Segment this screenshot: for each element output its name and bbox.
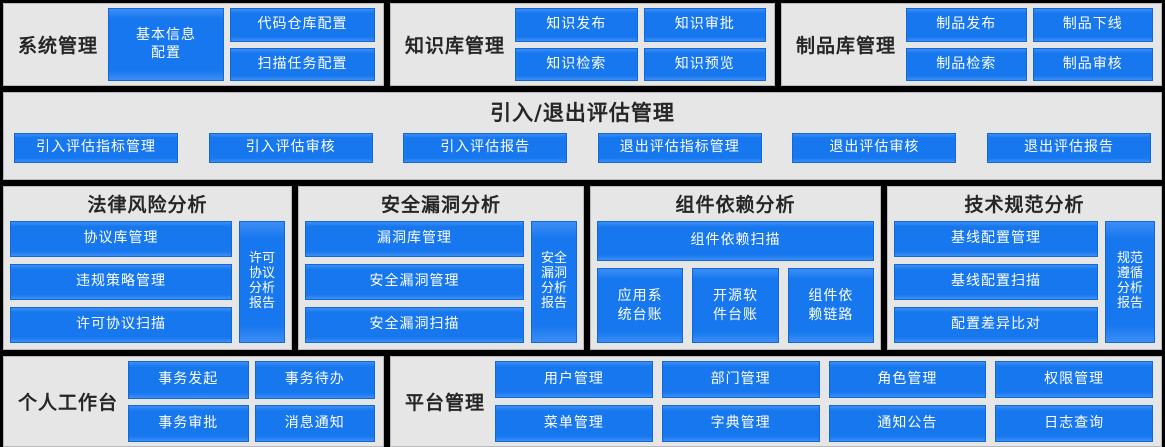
panel-title-entry-exit-evaluation: 引入/退出评估管理 bbox=[10, 97, 1155, 129]
button-license-analysis-report[interactable]: 许可 协议 分析 报告 bbox=[239, 221, 285, 343]
body-legal-risk-analysis: 协议库管理 违规策略管理 许可协议扫描 许可 协议 分析 报告 bbox=[10, 219, 285, 343]
button-vulnerability-repo-management[interactable]: 漏洞库管理 bbox=[305, 221, 524, 257]
button-knowledge-search[interactable]: 知识检索 bbox=[515, 48, 637, 82]
row-entry-exit-evaluation: 引入/退出评估管理 引入评估指标管理 引入评估审核 引入评估报告 退出评估指标管… bbox=[0, 92, 1165, 180]
panel-title-knowledge-base-management: 知识库管理 bbox=[395, 31, 515, 58]
body-technical-standard-analysis: 基线配置管理 基线配置扫描 配置差异比对 规范 遵循 分析 报告 bbox=[894, 219, 1155, 343]
button-baseline-config-scan[interactable]: 基线配置扫描 bbox=[894, 264, 1098, 300]
button-open-source-software-ledger[interactable]: 开源软 件台账 bbox=[692, 268, 778, 343]
button-group-component-ledgers: 应用系 统台账 开源软 件台账 组件依 赖链路 bbox=[597, 268, 874, 343]
button-artifact-search[interactable]: 制品检索 bbox=[906, 48, 1026, 82]
button-knowledge-publish[interactable]: 知识发布 bbox=[515, 8, 637, 42]
panel-platform-management: 平台管理 用户管理 部门管理 角色管理 权限管理 菜单管理 字典管理 通知公告 … bbox=[390, 356, 1162, 447]
button-basic-info-config[interactable]: 基本信息 配置 bbox=[108, 8, 224, 81]
button-security-vulnerability-report[interactable]: 安全 漏洞 分析 报告 bbox=[531, 221, 577, 343]
button-knowledge-preview[interactable]: 知识预览 bbox=[644, 48, 767, 82]
button-security-vulnerability-management[interactable]: 安全漏洞管理 bbox=[305, 264, 524, 300]
button-component-dependency-chain[interactable]: 组件依 赖链路 bbox=[788, 268, 874, 343]
button-exit-eval-report[interactable]: 退出评估报告 bbox=[987, 133, 1151, 163]
button-component-dependency-scan[interactable]: 组件依赖扫描 bbox=[597, 221, 874, 261]
button-group-system-management: 基本信息 配置 代码仓库配置 扫描任务配置 bbox=[108, 8, 375, 81]
row-analysis-modules: 法律风险分析 协议库管理 违规策略管理 许可协议扫描 许可 协议 分析 报告 安… bbox=[0, 186, 1165, 350]
button-code-repo-config[interactable]: 代码仓库配置 bbox=[230, 8, 375, 42]
panel-legal-risk-analysis: 法律风险分析 协议库管理 违规策略管理 许可协议扫描 许可 协议 分析 报告 bbox=[3, 186, 292, 350]
panel-title-system-management: 系统管理 bbox=[8, 31, 108, 58]
panel-component-dependency-analysis: 组件依赖分析 组件依赖扫描 应用系 统台账 开源软 件台账 组件依 赖链路 bbox=[590, 186, 881, 350]
panel-title-legal-risk-analysis: 法律风险分析 bbox=[10, 191, 285, 219]
panel-title-technical-standard-analysis: 技术规范分析 bbox=[894, 191, 1155, 219]
panel-title-artifact-repo-management: 制品库管理 bbox=[786, 31, 906, 58]
button-dictionary-management[interactable]: 字典管理 bbox=[662, 405, 820, 442]
button-group-security-vulnerability: 漏洞库管理 安全漏洞管理 安全漏洞扫描 bbox=[305, 221, 524, 343]
panel-system-management: 系统管理 基本信息 配置 代码仓库配置 扫描任务配置 bbox=[3, 3, 384, 86]
panel-security-vulnerability-analysis: 安全漏洞分析 漏洞库管理 安全漏洞管理 安全漏洞扫描 安全 漏洞 分析 报告 bbox=[298, 186, 584, 350]
button-task-initiate[interactable]: 事务发起 bbox=[128, 361, 248, 398]
button-artifact-audit[interactable]: 制品审核 bbox=[1033, 48, 1154, 82]
button-menu-management[interactable]: 菜单管理 bbox=[495, 405, 653, 442]
button-scan-task-config[interactable]: 扫描任务配置 bbox=[230, 48, 375, 82]
button-exit-eval-metric-management[interactable]: 退出评估指标管理 bbox=[598, 133, 762, 163]
body-component-dependency-analysis: 组件依赖扫描 应用系 统台账 开源软 件台账 组件依 赖链路 bbox=[597, 219, 874, 343]
button-role-management[interactable]: 角色管理 bbox=[829, 361, 987, 398]
button-entry-eval-audit[interactable]: 引入评估审核 bbox=[209, 133, 373, 163]
panel-title-component-dependency-analysis: 组件依赖分析 bbox=[597, 191, 874, 219]
button-violation-policy-management[interactable]: 违规策略管理 bbox=[10, 264, 232, 300]
body-security-vulnerability-analysis: 漏洞库管理 安全漏洞管理 安全漏洞扫描 安全 漏洞 分析 报告 bbox=[305, 219, 577, 343]
button-user-management[interactable]: 用户管理 bbox=[495, 361, 653, 398]
button-knowledge-approval[interactable]: 知识审批 bbox=[644, 8, 767, 42]
button-notice-announcement[interactable]: 通知公告 bbox=[829, 405, 987, 442]
button-license-repo-management[interactable]: 协议库管理 bbox=[10, 221, 232, 257]
button-baseline-config-management[interactable]: 基线配置管理 bbox=[894, 221, 1098, 257]
button-config-difference-compare[interactable]: 配置差异比对 bbox=[894, 307, 1098, 343]
button-artifact-offline[interactable]: 制品下线 bbox=[1033, 8, 1154, 42]
panel-title-platform-management: 平台管理 bbox=[395, 388, 495, 415]
button-group-platform-management: 用户管理 部门管理 角色管理 权限管理 菜单管理 字典管理 通知公告 日志查询 bbox=[495, 361, 1153, 442]
button-task-approval[interactable]: 事务审批 bbox=[128, 405, 248, 442]
module-map-root: 系统管理 基本信息 配置 代码仓库配置 扫描任务配置 知识库管理 知识发布 知识… bbox=[0, 0, 1165, 447]
panel-title-personal-workbench: 个人工作台 bbox=[8, 388, 128, 415]
row-workbench-platform: 个人工作台 事务发起 事务待办 事务审批 消息通知 平台管理 用户管理 部门管理… bbox=[0, 356, 1165, 447]
panel-title-security-vulnerability-analysis: 安全漏洞分析 bbox=[305, 191, 577, 219]
button-application-system-ledger[interactable]: 应用系 统台账 bbox=[597, 268, 683, 343]
row-system-knowledge-artifact: 系统管理 基本信息 配置 代码仓库配置 扫描任务配置 知识库管理 知识发布 知识… bbox=[0, 3, 1165, 86]
button-artifact-publish[interactable]: 制品发布 bbox=[906, 8, 1026, 42]
button-license-agreement-scan[interactable]: 许可协议扫描 bbox=[10, 307, 232, 343]
button-exit-eval-audit[interactable]: 退出评估审核 bbox=[792, 133, 956, 163]
button-permission-management[interactable]: 权限管理 bbox=[995, 361, 1153, 398]
button-standard-compliance-report[interactable]: 规范 遵循 分析 报告 bbox=[1105, 221, 1155, 343]
button-department-management[interactable]: 部门管理 bbox=[662, 361, 820, 398]
button-message-notification[interactable]: 消息通知 bbox=[255, 405, 376, 442]
button-entry-eval-metric-management[interactable]: 引入评估指标管理 bbox=[14, 133, 178, 163]
button-group-legal-risk-analysis: 协议库管理 违规策略管理 许可协议扫描 bbox=[10, 221, 232, 343]
panel-entry-exit-evaluation: 引入/退出评估管理 引入评估指标管理 引入评估审核 引入评估报告 退出评估指标管… bbox=[3, 92, 1162, 180]
button-entry-eval-report[interactable]: 引入评估报告 bbox=[403, 133, 567, 163]
button-task-todo[interactable]: 事务待办 bbox=[255, 361, 376, 398]
panel-personal-workbench: 个人工作台 事务发起 事务待办 事务审批 消息通知 bbox=[3, 356, 384, 447]
button-group-personal-workbench: 事务发起 事务待办 事务审批 消息通知 bbox=[128, 361, 375, 442]
panel-knowledge-base-management: 知识库管理 知识发布 知识审批 知识检索 知识预览 bbox=[390, 3, 775, 86]
button-log-query[interactable]: 日志查询 bbox=[995, 405, 1153, 442]
button-security-vulnerability-scan[interactable]: 安全漏洞扫描 bbox=[305, 307, 524, 343]
button-group-artifact-repo: 制品发布 制品下线 制品检索 制品审核 bbox=[906, 8, 1153, 81]
button-group-technical-standard: 基线配置管理 基线配置扫描 配置差异比对 bbox=[894, 221, 1098, 343]
panel-artifact-repo-management: 制品库管理 制品发布 制品下线 制品检索 制品审核 bbox=[781, 3, 1162, 86]
button-group-knowledge-base: 知识发布 知识审批 知识检索 知识预览 bbox=[515, 8, 766, 81]
panel-technical-standard-analysis: 技术规范分析 基线配置管理 基线配置扫描 配置差异比对 规范 遵循 分析 报告 bbox=[887, 186, 1162, 350]
button-group-entry-exit-evaluation: 引入评估指标管理 引入评估审核 引入评估报告 退出评估指标管理 退出评估审核 退… bbox=[10, 133, 1155, 163]
